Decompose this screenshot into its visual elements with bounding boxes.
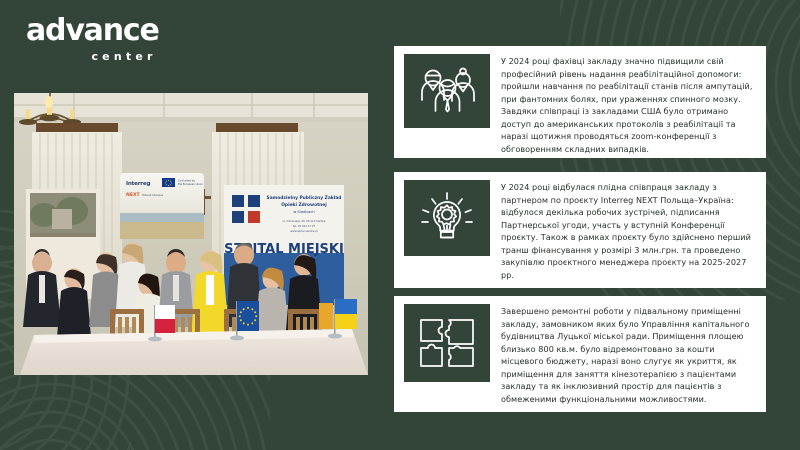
svg-text:ul. Kilińskiego 29, 08-110 Sie: ul. Kilińskiego 29, 08-110 Siedlce bbox=[282, 219, 325, 223]
puzzle-pieces-icon bbox=[404, 304, 490, 382]
svg-text:Co-funded by: Co-funded by bbox=[178, 179, 195, 183]
svg-text:Poland-Ukraine: Poland-Ukraine bbox=[142, 193, 163, 197]
svg-text:Opieki Zdrowotnej: Opieki Zdrowotnej bbox=[281, 202, 327, 208]
svg-text:NEXT: NEXT bbox=[126, 192, 141, 198]
svg-text:Interreg: Interreg bbox=[126, 181, 150, 187]
info-card-text: Завершено ремонтні роботи у підвальному … bbox=[490, 296, 766, 411]
info-card-text: У 2024 році відбулася плідна співпраця з… bbox=[490, 172, 766, 287]
info-card-text: У 2024 році фахівці закладу значно підви… bbox=[490, 46, 766, 161]
slide-canvas: advance center bbox=[0, 0, 800, 450]
svg-text:w Siedlcach: w Siedlcach bbox=[293, 210, 314, 214]
svg-text:www.spzoz-siedlce.pl: www.spzoz-siedlce.pl bbox=[290, 229, 318, 233]
svg-text:the European Union: the European Union bbox=[178, 182, 203, 186]
group-photo: Interreg NEXT Poland-Ukraine Co-funded b… bbox=[14, 93, 368, 375]
lightbulb-gear-icon bbox=[404, 180, 490, 256]
info-card-achievements: У 2024 році фахівці закладу значно підви… bbox=[394, 46, 766, 158]
brand-logo: advance center bbox=[26, 16, 159, 62]
brand-logo-name: advance bbox=[26, 16, 159, 46]
info-card-partnership: У 2024 році відбулася плідна співпраця з… bbox=[394, 172, 766, 288]
brand-logo-subtitle: center bbox=[26, 51, 159, 62]
info-card-renovation: Завершено ремонтні роботи у підвальному … bbox=[394, 296, 766, 412]
svg-text:Samodzielny Publiczny Zakład: Samodzielny Publiczny Zakład bbox=[267, 195, 342, 201]
svg-text:tel. 25 644 27 97: tel. 25 644 27 97 bbox=[293, 224, 316, 228]
group-photo-image: Interreg NEXT Poland-Ukraine Co-funded b… bbox=[14, 93, 368, 375]
three-people-icon bbox=[404, 54, 490, 128]
